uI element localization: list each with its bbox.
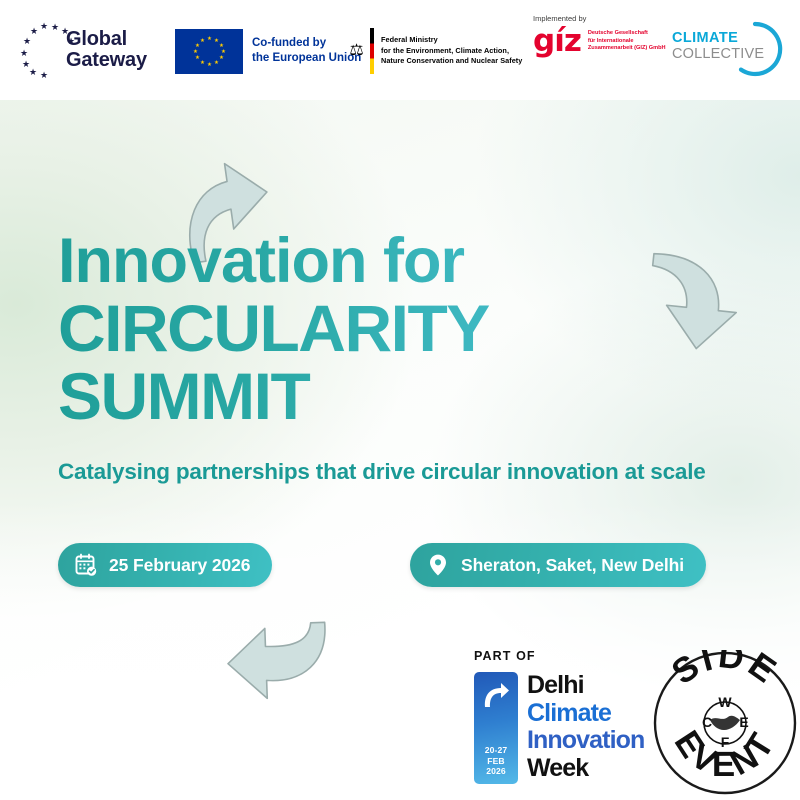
logo-climate-collective: CLIMATE COLLECTIVE (672, 18, 784, 80)
dciw-word-innovation: Innovation (527, 727, 644, 755)
federal-ministry-line1: Federal Ministry (381, 35, 522, 45)
giz-fullname: Deutsche Gesellschaft für Internationale… (588, 30, 666, 53)
dciw-wordmark: Delhi Climate Innovation Week (527, 672, 644, 782)
dciw-word-climate: Climate (527, 700, 644, 728)
logo-european-union: ★ ★ ★ ★ ★ ★ ★ ★ ★ ★ ★ ★ Co-funded by the… (175, 28, 361, 74)
venue-pill[interactable]: Sheraton, Saket, New Delhi (410, 543, 706, 587)
svg-text:W: W (718, 694, 732, 710)
dciw-date-line3: 2026 (474, 766, 518, 777)
eu-wordmark: Co-funded by the European Union (252, 36, 361, 66)
climate-collective-line2: COLLECTIVE (672, 47, 764, 63)
dciw-date-line1: 20-27 (474, 745, 518, 756)
dciw-date-line2: FEB (474, 756, 518, 767)
map-pin-icon (426, 553, 450, 577)
eu-flag-icon: ★ ★ ★ ★ ★ ★ ★ ★ ★ ★ ★ ★ (175, 29, 243, 74)
title-line-3: SUMMIT (58, 362, 678, 430)
dciw-badge-date: 20-27 FEB 2026 (474, 745, 518, 777)
svg-text:C: C (702, 714, 712, 730)
giz-line3: Zusammenarbeit (GIZ) GmbH (588, 45, 666, 53)
partner-logo-strip: ★ ★ ★ ★ ★ ★ ★ ★ ★ ★ Global Gateway ★ ★ ★ (0, 0, 800, 100)
global-gateway-line1: Global (66, 29, 147, 50)
title-line-2: CIRCULARITY (58, 294, 678, 362)
logo-global-gateway: ★ ★ ★ ★ ★ ★ ★ ★ ★ ★ Global Gateway (20, 20, 155, 80)
logo-delhi-climate-innovation-week: 20-27 FEB 2026 Delhi Climate Innovation … (474, 672, 644, 784)
poster-subtitle: Catalysing partnerships that drive circu… (58, 455, 748, 488)
federal-ministry-line2: for the Environment, Climate Action, (381, 46, 522, 56)
date-pill[interactable]: 25 February 2026 (58, 543, 272, 587)
poster-title: Innovation for CIRCULARITY SUMMIT (58, 228, 678, 430)
giz-wordmark: gíz (533, 26, 581, 57)
logo-federal-ministry: ⚖ Federal Ministry for the Environment, … (348, 28, 522, 74)
date-label: 25 February 2026 (109, 555, 250, 575)
giz-line2: für Internationale (588, 38, 666, 46)
german-flag-bars-icon (370, 28, 374, 74)
giz-implemented-by-label: Implemented by (533, 14, 666, 23)
venue-label: Sheraton, Saket, New Delhi (461, 555, 684, 575)
dciw-arrow-mark-icon (481, 681, 511, 711)
federal-ministry-line3: Nature Conservation and Nuclear Safety (381, 56, 522, 66)
global-gateway-stars-icon: ★ ★ ★ ★ ★ ★ ★ ★ ★ ★ (20, 22, 72, 78)
global-gateway-wordmark: Global Gateway (66, 29, 147, 71)
climate-collective-wordmark: CLIMATE COLLECTIVE (672, 31, 764, 62)
part-of-label: PART OF (474, 649, 536, 663)
title-line-1: Innovation for (58, 228, 678, 294)
logo-giz: Implemented by gíz Deutsche Gesellschaft… (533, 14, 666, 57)
dciw-word-delhi: Delhi (527, 672, 644, 700)
calendar-check-icon (74, 553, 98, 577)
climate-collective-line1: CLIMATE (672, 31, 764, 47)
eu-line2: the European Union (252, 51, 361, 66)
dciw-badge: 20-27 FEB 2026 (474, 672, 518, 784)
svg-text:F: F (721, 734, 730, 750)
svg-text:E: E (739, 714, 748, 730)
global-gateway-line2: Gateway (66, 50, 147, 71)
side-event-stamp: SIDE EVENT W E F C (652, 650, 798, 796)
german-eagle-icon: ⚖ (348, 42, 365, 61)
curved-arrow-left-icon (222, 618, 332, 706)
giz-line1: Deutsche Gesellschaft (588, 30, 666, 38)
eu-line1: Co-funded by (252, 36, 361, 51)
event-poster: ★ ★ ★ ★ ★ ★ ★ ★ ★ ★ Global Gateway ★ ★ ★ (0, 0, 800, 800)
dciw-word-week: Week (527, 755, 644, 783)
federal-ministry-wordmark: Federal Ministry for the Environment, Cl… (381, 35, 522, 66)
